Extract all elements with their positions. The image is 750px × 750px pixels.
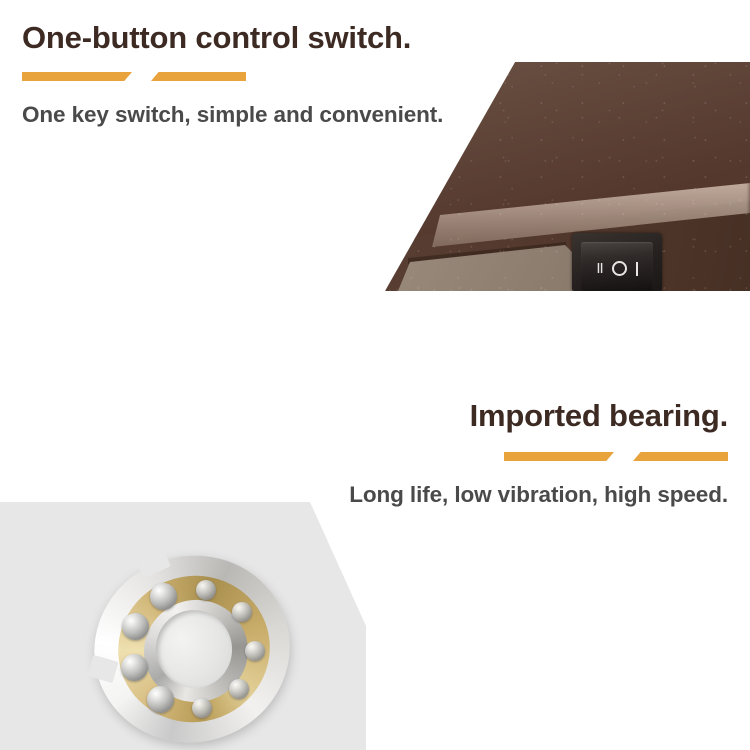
feature-2-heading: Imported bearing. — [470, 398, 728, 434]
feature-1-subtitle: One key switch, simple and convenient. — [22, 100, 443, 130]
appliance-body — [370, 55, 750, 291]
accent-dash-short — [151, 72, 246, 81]
bearing-ball — [232, 602, 252, 622]
bearing-ball — [121, 654, 148, 681]
rocker-switch[interactable]: II — [572, 233, 662, 291]
bearing-ball — [150, 583, 177, 610]
switch-mark-two-icon: II — [596, 261, 602, 276]
switch-markings: II — [581, 261, 653, 276]
accent-dash-short — [633, 452, 728, 461]
switch-mark-one-icon — [636, 262, 638, 276]
accent-dash-long — [22, 72, 132, 81]
feature-1-heading: One-button control switch. — [22, 20, 411, 56]
bearing-photo-panel — [0, 502, 366, 750]
bearing-ball — [245, 641, 265, 661]
product-feature-page: II One-button control switch. One key sw… — [0, 0, 750, 750]
bearing-ball — [147, 686, 174, 713]
feature-2-subtitle: Long life, low vibration, high speed. — [349, 480, 728, 510]
appliance-corner-photo: II — [370, 55, 750, 291]
feature-2-accent-dashes — [504, 452, 728, 461]
bearing-ball — [192, 698, 212, 718]
appliance-surface-texture — [370, 55, 750, 291]
accent-dash-long — [504, 452, 614, 461]
bearing-ball — [122, 613, 149, 640]
switch-mark-off-icon — [612, 261, 627, 276]
feature-1-accent-dashes — [22, 72, 246, 81]
ball-bearing-photo — [72, 530, 297, 740]
